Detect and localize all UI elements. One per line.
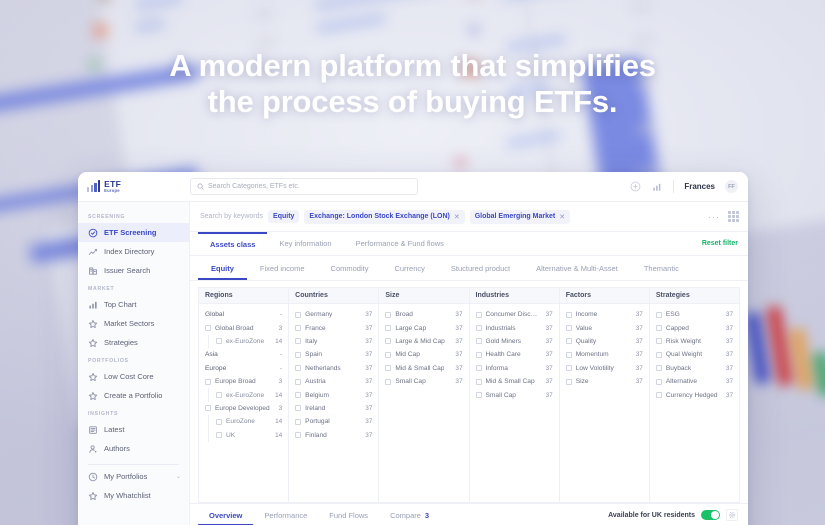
- asset-class-tab-currency[interactable]: Currency: [381, 256, 437, 280]
- facet-option-label: Broad: [395, 311, 413, 318]
- reset-filter-button[interactable]: Reset filter: [702, 232, 740, 255]
- checkbox[interactable]: [566, 338, 572, 344]
- facet-option-count: 37: [633, 351, 643, 358]
- sidebar-divider: [88, 464, 179, 465]
- facet-option[interactable]: Small Cap37: [385, 375, 462, 388]
- asset-class-tab-themantic[interactable]: Themantic: [631, 256, 692, 280]
- facet-option-count: 37: [452, 365, 462, 372]
- star-icon: [88, 391, 98, 401]
- facet-option-label: Size: [576, 378, 589, 385]
- keyword-search-input[interactable]: Search by keywords: [198, 213, 263, 220]
- checkbox[interactable]: [476, 352, 482, 358]
- facet-option-label: Germany: [305, 311, 332, 318]
- sidebar-item-label: Market Sectors: [104, 319, 154, 328]
- facet-option[interactable]: Gold Miners37: [476, 335, 553, 348]
- checkbox[interactable]: [385, 312, 391, 318]
- facet-option-count: 37: [723, 365, 733, 372]
- sidebar-item-label: Issuer Search: [104, 266, 150, 275]
- facet-option-count: 37: [362, 378, 372, 385]
- sidebar-group-title: INSIGHTS: [78, 405, 189, 420]
- facet-option-label: UK: [226, 432, 235, 439]
- uk-residents-label: Available for UK residents: [608, 512, 695, 519]
- sidebar-item-etf-screening[interactable]: ETF Screening: [78, 223, 189, 242]
- facet-options: Income37Value37Quality37Momentum37Low Vo…: [560, 304, 649, 502]
- logo-bars-icon: [87, 180, 100, 192]
- facet-option-count: 14: [272, 432, 282, 439]
- facet-option-count: 37: [452, 351, 462, 358]
- checkbox[interactable]: [566, 325, 572, 331]
- asset-class-tab-equity[interactable]: Equity: [198, 256, 247, 280]
- facet-title: Size: [379, 288, 468, 304]
- primary-tab-key-information[interactable]: Key information: [267, 232, 343, 255]
- checkbox[interactable]: [385, 379, 391, 385]
- sidebar-item-latest[interactable]: Latest: [78, 420, 189, 439]
- facet-columns: RegionsGlobal-Global Broad3ex-EuroZone14…: [190, 281, 748, 503]
- logo-primary-text: ETF: [104, 180, 121, 189]
- sidebar-item-label: Index Directory: [104, 247, 154, 256]
- facet-title: Industries: [470, 288, 559, 304]
- facet-option-count: 37: [723, 325, 733, 332]
- facet-column-factors: FactorsIncome37Value37Quality37Momentum3…: [559, 287, 649, 503]
- facet-option[interactable]: Ireland37: [295, 402, 372, 415]
- checkbox[interactable]: [656, 338, 662, 344]
- facet-option-label: Belgium: [305, 392, 329, 399]
- facet-option-count: 37: [362, 432, 372, 439]
- facet-option-count: 37: [723, 351, 733, 358]
- facet-option[interactable]: Broad37: [385, 308, 462, 321]
- facet-title: Factors: [560, 288, 649, 304]
- facet-column-size: SizeBroad37Large Cap37Large & Mid Cap37M…: [378, 287, 468, 503]
- checkbox[interactable]: [566, 379, 572, 385]
- facet-options: ESG37Capped37Risk Weight37Qual Weight37B…: [650, 304, 739, 502]
- facet-option-count: 37: [362, 418, 372, 425]
- user-name[interactable]: Frances: [684, 182, 715, 191]
- checkbox[interactable]: [476, 325, 482, 331]
- facet-option[interactable]: France37: [295, 321, 372, 334]
- facet-option[interactable]: EuroZone14: [208, 415, 282, 428]
- facet-option[interactable]: Spain37: [295, 348, 372, 361]
- sidebar-group-title: MARKET: [78, 280, 189, 295]
- facet-option-count: 37: [723, 378, 733, 385]
- facet-option[interactable]: Alternative37: [656, 375, 733, 388]
- facet-option[interactable]: Asia-: [205, 348, 282, 361]
- facet-option-count: 3: [276, 378, 283, 385]
- facet-title: Strategies: [650, 288, 739, 304]
- results-tab-label: Performance: [264, 511, 307, 520]
- filter-chip-label: Exchange: London Stock Exchange (LON): [309, 213, 449, 220]
- results-tabs-actions: Available for UK residents: [608, 504, 740, 525]
- facet-option-label: Europe: [205, 365, 226, 372]
- checkbox[interactable]: [295, 379, 301, 385]
- facet-option-count: 37: [362, 392, 372, 399]
- asset-class-tab-fixed-income[interactable]: Fixed income: [247, 256, 318, 280]
- sidebar-item-label: My Portfolios: [104, 472, 147, 481]
- asset-class-tabs: EquityFixed incomeCommodityCurrencyStuct…: [190, 256, 748, 281]
- facet-option-label: Value: [576, 325, 592, 332]
- facet-option[interactable]: Currency Hedged37: [656, 388, 733, 401]
- checkbox[interactable]: [476, 312, 482, 318]
- hero-heading: A modern platform that simplifies the pr…: [0, 48, 825, 119]
- facet-column-strategies: StrategiesESG37Capped37Risk Weight37Qual…: [649, 287, 740, 503]
- facet-option-count: 37: [633, 338, 643, 345]
- facet-option-label: Quality: [576, 338, 597, 345]
- facet-option-count: -: [277, 311, 282, 318]
- facet-option[interactable]: Europe-: [205, 362, 282, 375]
- close-icon[interactable]: ✕: [454, 213, 460, 221]
- checkbox[interactable]: [295, 338, 301, 344]
- facet-option-label: Large & Mid Cap: [395, 338, 444, 345]
- facet-option-label: Italy: [305, 338, 317, 345]
- facet-option-label: Currency Hedged: [666, 392, 718, 399]
- sidebar-item-low-cost-core[interactable]: Low Cost Core: [78, 367, 189, 386]
- sidebar-item-label: Create a Portfolio: [104, 391, 162, 400]
- sidebar-group-title: PORTFOLIOS: [78, 352, 189, 367]
- star-icon: [88, 372, 98, 382]
- grid-view-icon[interactable]: [727, 210, 740, 223]
- topbar-divider: [673, 180, 674, 193]
- facet-option-label: Spain: [305, 351, 322, 358]
- checkbox[interactable]: [295, 405, 301, 411]
- checkbox[interactable]: [295, 419, 301, 425]
- checkbox[interactable]: [216, 432, 222, 438]
- facet-option-count: 3: [276, 405, 283, 412]
- facet-option[interactable]: Size37: [566, 375, 643, 388]
- facet-option-label: Alternative: [666, 378, 697, 385]
- facet-option-count: 14: [272, 338, 282, 345]
- facet-option-label: Mid & Small Cap: [486, 378, 535, 385]
- facet-option[interactable]: Large Cap37: [385, 321, 462, 334]
- plus-circle-icon[interactable]: [629, 181, 641, 193]
- facet-option[interactable]: Value37: [566, 321, 643, 334]
- facet-option-label: EuroZone: [226, 418, 255, 425]
- checkbox[interactable]: [216, 419, 222, 425]
- brand-logo[interactable]: ETF Europe: [78, 180, 190, 194]
- facet-option-count: -: [277, 351, 282, 358]
- facet-option-label: Gold Miners: [486, 338, 522, 345]
- asset-class-tab-stuctured-product[interactable]: Stuctured product: [438, 256, 523, 280]
- checkbox[interactable]: [205, 405, 211, 411]
- checkbox[interactable]: [205, 325, 211, 331]
- facet-option-label: France: [305, 325, 326, 332]
- asset-class-tab-alternative-multi-asset[interactable]: Alternative & Multi-Asset: [523, 256, 631, 280]
- app-window: ETF Europe Search Categories, ETFs etc.: [78, 172, 748, 525]
- checkbox[interactable]: [295, 352, 301, 358]
- bar-chart-icon: [88, 300, 98, 310]
- facet-option[interactable]: Risk Weight37: [656, 335, 733, 348]
- facet-options: Germany37France37Italy37Spain37Netherlan…: [289, 304, 378, 502]
- checkbox[interactable]: [476, 379, 482, 385]
- checkbox[interactable]: [656, 365, 662, 371]
- filter-chip-label: Equity: [273, 213, 294, 220]
- filter-chip-label: Global Emerging Market: [475, 213, 556, 220]
- facet-option[interactable]: Income37: [566, 308, 643, 321]
- star-icon: [88, 491, 98, 501]
- facet-option-label: Concumer Discret...: [486, 311, 539, 318]
- filter-chip[interactable]: Equity: [268, 210, 299, 223]
- clock-icon: [88, 472, 98, 482]
- facet-option-count: 37: [633, 325, 643, 332]
- hero-line-1: A modern platform that simplifies: [0, 48, 825, 84]
- facet-option-count: 37: [723, 392, 733, 399]
- facet-option-label: Portugal: [305, 418, 330, 425]
- facet-option[interactable]: ESG37: [656, 308, 733, 321]
- facet-option[interactable]: Health Care37: [476, 348, 553, 361]
- checkbox[interactable]: [476, 338, 482, 344]
- app-topbar: ETF Europe Search Categories, ETFs etc.: [78, 172, 748, 202]
- sidebar-item-issuer-search[interactable]: Issuer Search: [78, 261, 189, 280]
- checkbox[interactable]: [476, 365, 482, 371]
- star-icon: [88, 338, 98, 348]
- star-icon: [88, 319, 98, 329]
- results-tab-fund-flows[interactable]: Fund Flows: [318, 504, 379, 525]
- sidebar-item-market-sectors[interactable]: Market Sectors: [78, 314, 189, 333]
- checkbox[interactable]: [295, 365, 301, 371]
- facet-option[interactable]: Capped37: [656, 321, 733, 334]
- facet-option[interactable]: Europe Broad3: [205, 375, 282, 388]
- checkbox[interactable]: [205, 379, 211, 385]
- facet-option-count: 37: [543, 338, 553, 345]
- facet-option[interactable]: Austria37: [295, 375, 372, 388]
- facet-option-label: Europe Developed: [215, 405, 270, 412]
- checkbox[interactable]: [476, 392, 482, 398]
- facet-column-regions: RegionsGlobal-Global Broad3ex-EuroZone14…: [198, 287, 288, 503]
- facet-option[interactable]: ex-EuroZone14: [208, 388, 282, 401]
- sidebar-group-title: SCREENING: [78, 208, 189, 223]
- sidebar-item-my-whatchlist[interactable]: My Whatchlist: [78, 486, 189, 505]
- checkbox[interactable]: [385, 365, 391, 371]
- sidebar-item-label: My Whatchlist: [104, 491, 151, 500]
- results-tab-overview[interactable]: Overview: [198, 504, 253, 525]
- facet-option[interactable]: Finland37: [295, 429, 372, 442]
- checkbox[interactable]: [295, 432, 301, 438]
- news-icon: [88, 425, 98, 435]
- checkbox[interactable]: [656, 392, 662, 398]
- facet-option-label: Austria: [305, 378, 326, 385]
- facet-option-label: Income: [576, 311, 598, 318]
- more-options-icon[interactable]: ···: [708, 212, 720, 222]
- facet-option-label: Global: [205, 311, 224, 318]
- facet-option[interactable]: Mid Cap37: [385, 348, 462, 361]
- uk-residents-toggle[interactable]: [701, 510, 720, 520]
- facet-option[interactable]: Mid & Small Cap37: [476, 375, 553, 388]
- sidebar-item-label: Top Chart: [104, 300, 137, 309]
- logo-text: ETF Europe: [104, 180, 121, 194]
- facet-option-label: ex-EuroZone: [226, 338, 264, 345]
- facet-option[interactable]: Concumer Discret...37: [476, 308, 553, 321]
- facet-option-label: Low Volotility: [576, 365, 614, 372]
- bar-chart-icon[interactable]: [651, 181, 663, 193]
- facet-option-count: 14: [272, 418, 282, 425]
- facet-option-count: 37: [362, 351, 372, 358]
- facet-option[interactable]: Europe Developed3: [205, 402, 282, 415]
- facet-option-label: Industrials: [486, 325, 516, 332]
- chevron-down-icon[interactable]: ⌄: [176, 473, 181, 480]
- facet-option[interactable]: ex-EuroZone14: [208, 335, 282, 348]
- results-tab-compare[interactable]: Compare3: [379, 504, 440, 525]
- checkbox[interactable]: [656, 312, 662, 318]
- sidebar-item-strategies[interactable]: Strategies: [78, 333, 189, 352]
- checkbox[interactable]: [216, 338, 222, 344]
- sidebar-item-label: ETF Screening: [104, 228, 157, 237]
- facet-option-count: 3: [276, 325, 283, 332]
- sidebar-item-authors[interactable]: Authors: [78, 439, 189, 458]
- facet-option-count: 37: [362, 311, 372, 318]
- checkbox[interactable]: [385, 352, 391, 358]
- facet-option-label: Capped: [666, 325, 689, 332]
- facet-option-label: Large Cap: [395, 325, 426, 332]
- checkbox[interactable]: [295, 312, 301, 318]
- facet-option-label: Informa: [486, 365, 508, 372]
- facet-option-count: 14: [272, 392, 282, 399]
- facet-option-label: Buyback: [666, 365, 691, 372]
- facet-title: Countries: [289, 288, 378, 304]
- facet-option[interactable]: Netherlands37: [295, 362, 372, 375]
- facet-option[interactable]: Low Volotility37: [566, 362, 643, 375]
- facet-option[interactable]: Momentum37: [566, 348, 643, 361]
- filter-chip-bar: Search by keywords EquityExchange: Londo…: [190, 202, 748, 232]
- facet-option[interactable]: Large & Mid Cap37: [385, 335, 462, 348]
- facet-option-label: Qual Weight: [666, 351, 702, 358]
- hero-line-2: the process of buying ETFs.: [0, 84, 825, 120]
- avatar[interactable]: FF: [725, 180, 738, 193]
- search-icon: [197, 183, 204, 190]
- facet-option-count: 37: [633, 378, 643, 385]
- facet-option[interactable]: Qual Weight37: [656, 348, 733, 361]
- primary-tab-assets-class[interactable]: Assets class: [198, 232, 267, 255]
- facet-option-label: Health Care: [486, 351, 521, 358]
- facet-option[interactable]: Italy37: [295, 335, 372, 348]
- global-search-placeholder: Search Categories, ETFs etc.: [208, 183, 300, 190]
- sidebar-item-label: Strategies: [104, 338, 138, 347]
- sidebar-item-label: Latest: [104, 425, 124, 434]
- checkbox[interactable]: [656, 379, 662, 385]
- sidebar-item-label: Authors: [104, 444, 130, 453]
- filter-chip[interactable]: Global Emerging Market✕: [470, 210, 570, 224]
- facet-option-label: Momentum: [576, 351, 609, 358]
- primary-tabs: Assets classKey informationPerformance &…: [190, 232, 748, 256]
- facet-option-count: 37: [452, 325, 462, 332]
- facet-option-count: 37: [362, 338, 372, 345]
- results-tabs: OverviewPerformanceFund FlowsCompare3 Av…: [190, 504, 748, 525]
- primary-tab-performance-fund-flows[interactable]: Performance & Fund flows: [344, 232, 456, 255]
- facet-option-label: Mid Cap: [395, 351, 420, 358]
- facet-option[interactable]: Global-: [205, 308, 282, 321]
- results-tab-badge: 3: [425, 511, 429, 520]
- main-content: Search by keywords EquityExchange: Londo…: [190, 202, 748, 525]
- facet-option-label: Europe Broad: [215, 378, 256, 385]
- sidebar-item-index-directory[interactable]: Index Directory: [78, 242, 189, 261]
- sidebar: SCREENINGETF ScreeningIndex DirectoryIss…: [78, 202, 190, 525]
- results-tab-performance[interactable]: Performance: [253, 504, 318, 525]
- facet-column-industries: IndustriesConcumer Discret...37Industria…: [469, 287, 559, 503]
- facet-option-count: 37: [543, 378, 553, 385]
- results-section: OverviewPerformanceFund FlowsCompare3 Av…: [190, 503, 748, 525]
- facet-option-label: Global Broad: [215, 325, 254, 332]
- facet-option-count: 37: [723, 311, 733, 318]
- topbar-actions: Frances FF: [629, 180, 748, 193]
- facet-option-label: Small Cap: [486, 392, 516, 399]
- checkbox[interactable]: [216, 392, 222, 398]
- building-icon: [88, 266, 98, 276]
- facet-option-count: 37: [543, 351, 553, 358]
- facet-title: Regions: [199, 288, 288, 304]
- facet-option-label: Risk Weight: [666, 338, 701, 345]
- sidebar-item-label: Low Cost Core: [104, 372, 154, 381]
- facet-option[interactable]: Mid & Small Cap37: [385, 362, 462, 375]
- facet-option[interactable]: UK14: [208, 429, 282, 442]
- sidebar-item-top-chart[interactable]: Top Chart: [78, 295, 189, 314]
- checkbox[interactable]: [566, 312, 572, 318]
- facet-option[interactable]: Quality37: [566, 335, 643, 348]
- check-circle-icon: [88, 228, 98, 238]
- person-icon: [88, 444, 98, 454]
- facet-option-count: 37: [452, 311, 462, 318]
- facet-option-count: 37: [452, 378, 462, 385]
- filter-bar-actions: ···: [708, 210, 740, 223]
- facet-option-label: Small Cap: [395, 378, 425, 385]
- results-tab-label: Overview: [209, 511, 242, 520]
- facet-option[interactable]: Small Cap37: [476, 388, 553, 401]
- facet-option-count: 37: [362, 325, 372, 332]
- results-tab-label: Fund Flows: [329, 511, 368, 520]
- facet-option[interactable]: Belgium37: [295, 388, 372, 401]
- facet-option-label: ESG: [666, 311, 680, 318]
- facet-option[interactable]: Informa37: [476, 362, 553, 375]
- close-icon[interactable]: ✕: [559, 213, 565, 221]
- facet-option-label: Asia: [205, 351, 218, 358]
- facet-option[interactable]: Portugal37: [295, 415, 372, 428]
- checkbox[interactable]: [295, 325, 301, 331]
- facet-option-label: ex-EuroZone: [226, 392, 264, 399]
- asset-class-tab-commodity[interactable]: Commodity: [318, 256, 382, 280]
- facet-option-count: 37: [362, 365, 372, 372]
- facet-option-count: 37: [362, 405, 372, 412]
- facet-option-count: 37: [543, 365, 553, 372]
- checkbox[interactable]: [656, 325, 662, 331]
- facet-options: Global-Global Broad3ex-EuroZone14Asia-Eu…: [199, 304, 288, 502]
- checkbox[interactable]: [295, 392, 301, 398]
- facet-option-count: 37: [452, 338, 462, 345]
- facet-option-count: 37: [723, 338, 733, 345]
- gear-icon[interactable]: [726, 509, 738, 521]
- facet-options: Broad37Large Cap37Large & Mid Cap37Mid C…: [379, 304, 468, 502]
- sidebar-item-create-a-portfolio[interactable]: Create a Portfolio: [78, 386, 189, 405]
- facet-option-label: Netherlands: [305, 365, 341, 372]
- results-tab-label: Compare: [390, 511, 421, 520]
- checkbox[interactable]: [566, 365, 572, 371]
- facet-option-label: Ireland: [305, 405, 325, 412]
- checkbox[interactable]: [385, 325, 391, 331]
- facet-option[interactable]: Buyback37: [656, 362, 733, 375]
- global-search-input[interactable]: Search Categories, ETFs etc.: [190, 178, 418, 195]
- facet-option[interactable]: Global Broad3: [205, 321, 282, 334]
- checkbox[interactable]: [656, 352, 662, 358]
- facet-option-count: 37: [543, 311, 553, 318]
- facet-option[interactable]: Industrials37: [476, 321, 553, 334]
- facet-option-count: 37: [543, 325, 553, 332]
- facet-options: Concumer Discret...37Industrials37Gold M…: [470, 304, 559, 502]
- facet-option[interactable]: Germany37: [295, 308, 372, 321]
- facet-option-label: Mid & Small Cap: [395, 365, 444, 372]
- facet-option-count: 37: [633, 365, 643, 372]
- sidebar-item-my-portfolios[interactable]: My Portfolios⌄: [78, 467, 189, 486]
- checkbox[interactable]: [385, 338, 391, 344]
- checkbox[interactable]: [566, 352, 572, 358]
- filter-chip[interactable]: Exchange: London Stock Exchange (LON)✕: [304, 210, 464, 224]
- facet-option-count: 37: [543, 392, 553, 399]
- facet-column-countries: CountriesGermany37France37Italy37Spain37…: [288, 287, 378, 503]
- line-chart-icon: [88, 247, 98, 257]
